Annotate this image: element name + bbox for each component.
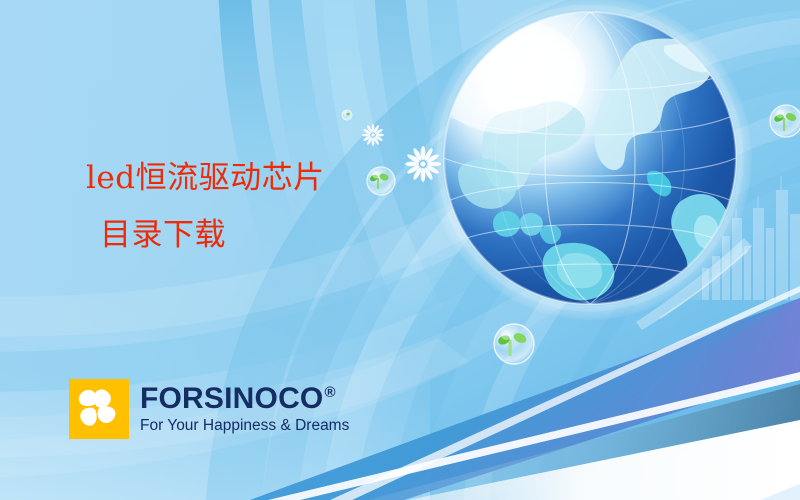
bubble-sprout-lower	[494, 324, 534, 364]
company-logo: FORSINOCO ® For Your Happiness & Dreams	[69, 379, 349, 439]
bubble-sprout-mid	[367, 167, 395, 195]
logo-lockup-text: FORSINOCO ® For Your Happiness & Dreams	[140, 384, 349, 435]
bubble-sprout-right	[770, 105, 800, 137]
logo-mark-pinwheel	[69, 379, 129, 439]
logo-wordmark: FORSINOCO ®	[140, 384, 349, 414]
slide-canvas: led恒流驱动芯片 目录下载 FORSINOCO ® For Your Happ…	[0, 0, 800, 500]
pinwheel-petals	[79, 389, 116, 425]
logo-tagline: For Your Happiness & Dreams	[140, 417, 349, 435]
logo-wordmark-text: FORSINOCO	[140, 384, 323, 414]
registered-trademark-icon: ®	[324, 385, 335, 400]
bubble-tiny-top	[342, 110, 352, 120]
